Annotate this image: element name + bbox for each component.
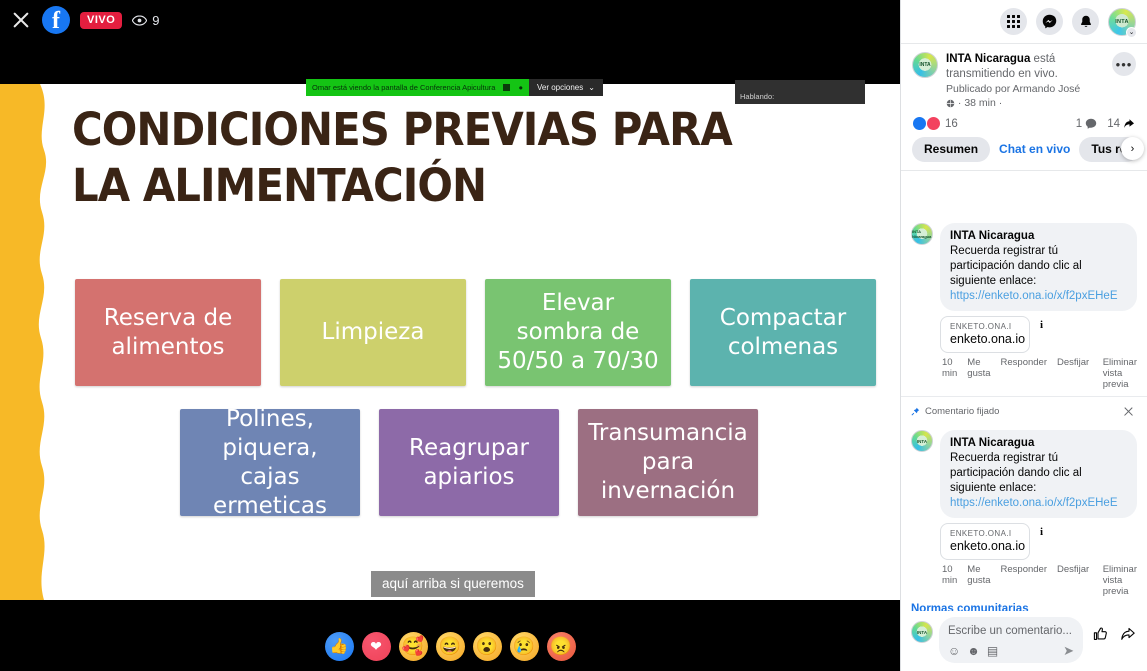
- slide-card: Reagrupar apiarios: [379, 409, 559, 516]
- published-by: Publicado por Armando José: [946, 82, 1104, 96]
- post-status-line: INTA Nicaragua está transmitiendo en viv…: [946, 52, 1104, 82]
- remove-preview-action[interactable]: Eliminar vista previa: [1103, 564, 1137, 597]
- comments-area: INTA Nicaragua INTA Nicaragua Recuerda r…: [901, 171, 1147, 611]
- pinned-comment-item: INTA INTA Nicaragua Recuerda registrar t…: [901, 422, 1147, 597]
- comment-icon: [1085, 118, 1097, 130]
- share-icon[interactable]: [1117, 623, 1139, 645]
- live-caption: aquí arriba si queremos: [371, 571, 535, 597]
- comment-link[interactable]: https://enketo.ona.io/x/f2pxEHeE: [950, 496, 1127, 511]
- comment-count: 1: [1076, 118, 1082, 130]
- chevron-down-icon: ⌄: [588, 83, 595, 92]
- composer-avatar-label: INTA: [917, 630, 927, 635]
- tab-resumen[interactable]: Resumen: [912, 137, 990, 162]
- composer-icons: ☺ ☻ ▤ ➤: [948, 643, 1074, 659]
- decorative-wave-edge: [0, 84, 58, 600]
- thumbs-up-glyph: [1092, 626, 1108, 642]
- share-count-group[interactable]: 14: [1107, 118, 1135, 130]
- live-video-page: f VIVO 9 CONDICIONES PREVIAS PARA LA ALI…: [0, 0, 1147, 671]
- share-icon: [1123, 118, 1135, 130]
- speaking-label: Hablando:: [740, 92, 774, 101]
- reactions-bar: 👍 ❤ 🥰 😄 😮 😢 😠: [0, 629, 900, 663]
- post-timestamp: · 38 min ·: [958, 97, 1002, 109]
- screen-share-message: Omar está viendo la pantalla de Conferen…: [312, 83, 495, 92]
- viewer-count-group: 9: [132, 13, 159, 28]
- comment-bubble: INTA Nicaragua Recuerda registrar tú par…: [940, 430, 1137, 518]
- pinned-comment-header: Comentario fijado: [901, 396, 1147, 422]
- comments-spacer: [901, 171, 1147, 215]
- slide-card-row-2: Polines, piquera, cajas ermeticas Reagru…: [180, 409, 758, 516]
- comment-count-group[interactable]: 1: [1076, 118, 1097, 130]
- link-preview-title: enketo.ona.io: [950, 332, 1020, 346]
- post-header: INTA INTA Nicaragua está transmitiendo e…: [901, 44, 1147, 110]
- comment-avatar[interactable]: INTA: [911, 430, 933, 452]
- share-glyph: [1120, 626, 1136, 642]
- comment-item: INTA Nicaragua INTA Nicaragua Recuerda r…: [901, 215, 1147, 390]
- close-icon[interactable]: [10, 9, 32, 31]
- screen-share-message-group: Omar está viendo la pantalla de Conferen…: [306, 79, 529, 96]
- link-preview-card[interactable]: ENKETO.ONA.I enketo.ona.io i: [940, 316, 1030, 353]
- comment-composer: INTA Escribe un comentario... ☺ ☻ ▤ ➤: [901, 611, 1147, 671]
- comment-text-line-2: participación dando clic al: [950, 259, 1127, 274]
- grid-menu-glyph: [1007, 15, 1020, 28]
- speaking-indicator-box: Hablando:: [735, 80, 865, 104]
- grid-menu-icon[interactable]: [1000, 8, 1027, 35]
- reactions-summary[interactable]: 16: [912, 116, 958, 131]
- reply-action[interactable]: Responder: [1001, 564, 1047, 597]
- care-reaction-button[interactable]: 🥰: [399, 632, 428, 661]
- comment-time: 10 min: [942, 564, 957, 597]
- engagement-counts: 1 14: [1076, 118, 1135, 130]
- stop-share-icon[interactable]: [503, 84, 510, 91]
- shared-screen-slide: CONDICIONES PREVIAS PARA LA ALIMENTACIÓN…: [0, 84, 900, 600]
- comment-body: INTA Nicaragua Recuerda registrar tú par…: [940, 430, 1137, 597]
- post-stats: 16 1 14: [901, 110, 1147, 135]
- comment-text-line-1: Recuerda registrar tú: [950, 244, 1127, 259]
- post-meta: INTA Nicaragua está transmitiendo en viv…: [946, 52, 1104, 110]
- page-name[interactable]: INTA Nicaragua: [946, 53, 1030, 65]
- notifications-bell-icon[interactable]: [1072, 8, 1099, 35]
- slide-card: Transumancia para invernación: [578, 409, 758, 516]
- comment-body: INTA Nicaragua Recuerda registrar tú par…: [940, 223, 1137, 390]
- link-preview-title: enketo.ona.io: [950, 539, 1020, 553]
- globe-icon: [946, 99, 955, 108]
- comment-text-line-1: Recuerda registrar tú: [950, 451, 1127, 466]
- comment-text-line-2: participación dando clic al: [950, 466, 1127, 481]
- slide-title: CONDICIONES PREVIAS PARA LA ALIMENTACIÓN: [72, 102, 779, 214]
- share-count: 14: [1107, 118, 1120, 130]
- comment-link[interactable]: https://enketo.ona.io/x/f2pxEHeE: [950, 289, 1127, 304]
- sad-reaction-button[interactable]: 😢: [510, 632, 539, 661]
- composer-avatar[interactable]: INTA: [911, 621, 933, 643]
- slide-card-row-1: Reserva de alimentos Limpieza Elevar som…: [75, 279, 876, 386]
- comment-text-line-3: siguiente enlace:: [950, 481, 1127, 496]
- viewer-count: 9: [152, 13, 159, 28]
- reply-action[interactable]: Responder: [1001, 357, 1047, 390]
- right-sidebar: INTA ⌄ INTA INTA Nicaragua está transmit…: [900, 0, 1147, 671]
- comment-actions: 10 min Me gusta Responder Desfijar Elimi…: [940, 357, 1137, 390]
- like-reaction-button[interactable]: 👍: [325, 632, 354, 661]
- comment-input-box[interactable]: Escribe un comentario... ☺ ☻ ▤ ➤: [939, 617, 1083, 663]
- video-column: f VIVO 9 CONDICIONES PREVIAS PARA LA ALI…: [0, 0, 900, 671]
- sidebar-scroll-region[interactable]: INTA INTA Nicaragua está transmitiendo e…: [901, 44, 1147, 611]
- composer-actions: [1089, 617, 1139, 645]
- facebook-logo-glyph: f: [42, 8, 70, 34]
- slide-card: Compactar colmenas: [690, 279, 876, 386]
- account-avatar[interactable]: INTA ⌄: [1108, 8, 1136, 36]
- messenger-glyph: [1042, 14, 1057, 29]
- messenger-icon[interactable]: [1036, 8, 1063, 35]
- chevron-down-icon: ⌄: [1126, 27, 1137, 38]
- comment-author[interactable]: INTA Nicaragua: [950, 436, 1127, 451]
- remove-preview-action[interactable]: Eliminar vista previa: [1103, 357, 1137, 390]
- info-icon[interactable]: i: [1040, 319, 1043, 331]
- live-badge: VIVO: [80, 12, 122, 29]
- link-preview-domain: ENKETO.ONA.I: [950, 322, 1020, 331]
- link-preview-domain: ENKETO.ONA.I: [950, 529, 1020, 538]
- view-options-label: Ver opciones: [537, 83, 583, 92]
- link-preview-card[interactable]: ENKETO.ONA.I enketo.ona.io i: [940, 523, 1030, 560]
- chevron-right-icon[interactable]: ›: [1121, 137, 1144, 160]
- love-reaction-button[interactable]: ❤: [362, 632, 391, 661]
- like-action[interactable]: Me gusta: [967, 564, 990, 597]
- facebook-logo-icon[interactable]: f: [42, 6, 70, 34]
- post-menu-button[interactable]: •••: [1112, 52, 1136, 76]
- comment-text-line-3: siguiente enlace:: [950, 274, 1127, 289]
- like-action[interactable]: Me gusta: [967, 357, 990, 390]
- eye-icon: [132, 15, 147, 26]
- comment-actions: 10 min Me gusta Responder Desfijar Elimi…: [940, 564, 1137, 597]
- share-mic-icon[interactable]: ●: [518, 83, 523, 92]
- angry-reaction-button[interactable]: 😠: [547, 632, 576, 661]
- comment-avatar-label: INTA Nicaragua: [912, 229, 932, 239]
- slide-card: Elevar sombra de 50/50 a 70/30: [485, 279, 671, 386]
- send-icon[interactable]: ➤: [1063, 643, 1074, 659]
- wow-reaction-button[interactable]: 😮: [473, 632, 502, 661]
- haha-reaction-button[interactable]: 😄: [436, 632, 465, 661]
- close-icon[interactable]: [1120, 403, 1137, 420]
- pin-icon: [911, 407, 920, 416]
- pinned-label: Comentario fijado: [925, 406, 999, 417]
- slide-card: Reserva de alimentos: [75, 279, 261, 386]
- community-standards-link[interactable]: Normas comunitarias: [901, 597, 1147, 611]
- comment-time: 10 min: [942, 357, 957, 390]
- comment-author[interactable]: INTA Nicaragua: [950, 229, 1127, 244]
- reaction-count: 16: [945, 118, 958, 130]
- sidebar-top-nav: INTA ⌄: [901, 0, 1147, 44]
- unpin-action[interactable]: Desfijar: [1057, 357, 1093, 390]
- tab-chat-en-vivo[interactable]: Chat en vivo: [997, 137, 1072, 162]
- comment-bubble: INTA Nicaragua Recuerda registrar tú par…: [940, 223, 1137, 311]
- thumbs-up-icon[interactable]: [1089, 623, 1111, 645]
- sidebar-tabs: Resumen Chat en vivo Tus respue ›: [901, 135, 1147, 171]
- live-top-bar: f VIVO 9: [0, 0, 900, 40]
- comment-input[interactable]: Escribe un comentario...: [948, 624, 1074, 639]
- view-options-button[interactable]: Ver opciones ⌄: [529, 79, 603, 96]
- comment-avatar[interactable]: INTA Nicaragua: [911, 223, 933, 245]
- slide-card: Limpieza: [280, 279, 466, 386]
- unpin-action[interactable]: Desfijar: [1057, 564, 1093, 597]
- post-timestamp-row: · 38 min ·: [946, 96, 1104, 110]
- like-reaction-icon: [912, 116, 927, 131]
- comment-avatar-label: INTA: [917, 439, 927, 444]
- emoji-icon[interactable]: ☺: [948, 644, 960, 658]
- page-avatar[interactable]: INTA: [912, 52, 938, 78]
- love-reaction-icon: [926, 116, 941, 131]
- screen-share-bar: Omar está viendo la pantalla de Conferen…: [306, 79, 603, 96]
- avatar-label: INTA: [1115, 19, 1129, 25]
- slide-card: Polines, piquera, cajas ermeticas: [180, 409, 360, 516]
- page-avatar-label: INTA: [919, 62, 930, 68]
- info-icon[interactable]: i: [1040, 526, 1043, 538]
- pinned-label-group: Comentario fijado: [911, 406, 999, 417]
- bell-glyph: [1079, 15, 1093, 29]
- gif-icon[interactable]: ▤: [987, 644, 998, 658]
- sticker-icon[interactable]: ☻: [967, 644, 980, 658]
